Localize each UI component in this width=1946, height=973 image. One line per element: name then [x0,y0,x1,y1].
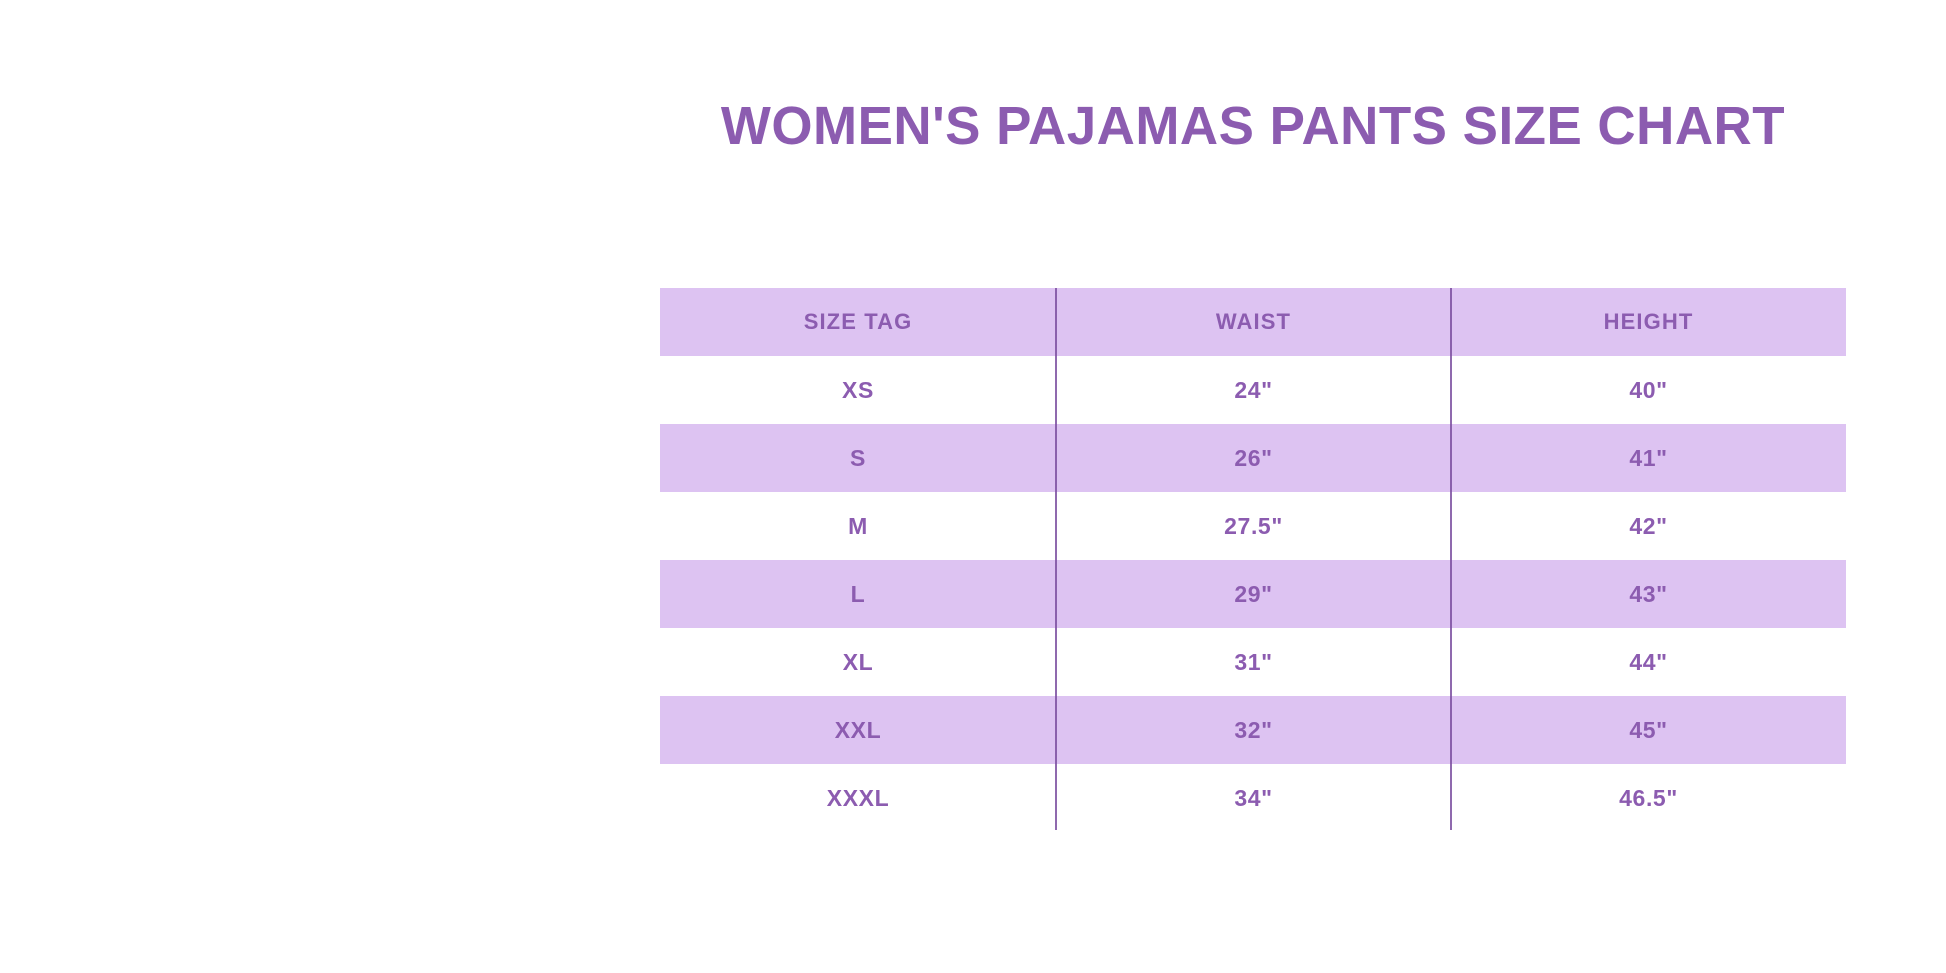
column-header-height: HEIGHT [1451,288,1846,356]
column-divider-1 [1055,288,1057,830]
cell-waist: 29" [1056,560,1451,628]
table-header: SIZE TAG WAIST HEIGHT [660,288,1846,356]
cell-waist: 32" [1056,696,1451,764]
table-body: XS 24" 40" S 26" 41" M 27.5" 42" L 29" [660,356,1846,832]
cell-size-tag: L [660,560,1056,628]
cell-size-tag: XXL [660,696,1056,764]
cell-size-tag: M [660,492,1056,560]
cell-waist: 34" [1056,764,1451,832]
table-row: XS 24" 40" [660,356,1846,424]
column-divider-2 [1450,288,1452,830]
cell-size-tag: XS [660,356,1056,424]
cell-size-tag: XL [660,628,1056,696]
cell-height: 41" [1451,424,1846,492]
cell-waist: 31" [1056,628,1451,696]
table-row: S 26" 41" [660,424,1846,492]
table-row: XL 31" 44" [660,628,1846,696]
cell-size-tag: XXXL [660,764,1056,832]
cell-waist: 26" [1056,424,1451,492]
page-canvas: WOMEN'S PAJAMAS PANTS SIZE CHART SIZE TA… [0,0,1946,973]
table-header-row: SIZE TAG WAIST HEIGHT [660,288,1846,356]
cell-size-tag: S [660,424,1056,492]
table-row: XXL 32" 45" [660,696,1846,764]
page-title: WOMEN'S PAJAMAS PANTS SIZE CHART [672,96,1834,156]
cell-height: 40" [1451,356,1846,424]
cell-height: 42" [1451,492,1846,560]
table-row: XXXL 34" 46.5" [660,764,1846,832]
cell-waist: 27.5" [1056,492,1451,560]
cell-height: 46.5" [1451,764,1846,832]
table-row: M 27.5" 42" [660,492,1846,560]
column-header-size-tag: SIZE TAG [660,288,1056,356]
cell-waist: 24" [1056,356,1451,424]
column-header-waist: WAIST [1056,288,1451,356]
cell-height: 43" [1451,560,1846,628]
cell-height: 45" [1451,696,1846,764]
cell-height: 44" [1451,628,1846,696]
size-chart-table: SIZE TAG WAIST HEIGHT XS 24" 40" S 26" 4… [660,288,1846,832]
table-row: L 29" 43" [660,560,1846,628]
size-chart-table-container: SIZE TAG WAIST HEIGHT XS 24" 40" S 26" 4… [660,288,1846,832]
